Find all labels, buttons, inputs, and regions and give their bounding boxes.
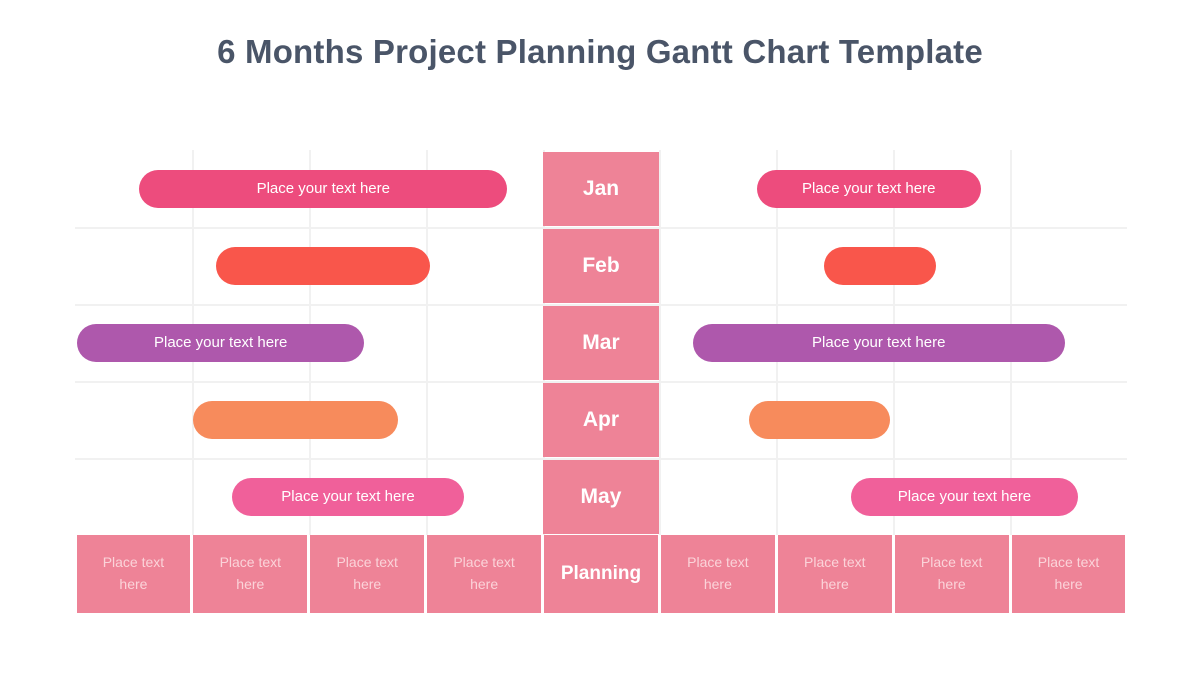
gantt-bar-label: Place your text here (281, 488, 414, 505)
grid-vline (659, 150, 661, 535)
gantt-bar-right-3[interactable]: Place your text here (693, 324, 1065, 362)
month-column: JanFebMarAprMay (543, 150, 660, 535)
bottom-cell-planning[interactable]: Planning (544, 535, 658, 613)
month-cell-mar[interactable]: Mar (543, 306, 660, 380)
gantt-bar-right-1[interactable]: Place your text here (757, 170, 981, 208)
bottom-cell-line2: here (821, 574, 849, 596)
gantt-bar-label: Place your text here (898, 488, 1031, 505)
bottom-cell-line1: Place text (336, 552, 397, 574)
bottom-cell-7[interactable]: Place texthere (895, 535, 1009, 613)
bottom-cell-line1: Place text (453, 552, 514, 574)
month-cell-apr[interactable]: Apr (543, 383, 660, 457)
gantt-bar-right-4[interactable] (749, 401, 890, 439)
bottom-cell-line1: Place text (804, 552, 865, 574)
bottom-cell-line1: Place text (220, 552, 281, 574)
bottom-cell-6[interactable]: Place texthere (778, 535, 892, 613)
bottom-cell-2[interactable]: Place texthere (310, 535, 424, 613)
slide-canvas: 6 Months Project Planning Gantt Chart Te… (0, 0, 1200, 675)
bottom-cell-3[interactable]: Place texthere (427, 535, 541, 613)
bottom-label-row: Place textherePlace textherePlace texthe… (75, 535, 1127, 613)
gantt-bar-left-3[interactable]: Place your text here (77, 324, 364, 362)
bottom-cell-line2: here (353, 574, 381, 596)
bottom-cell-1[interactable]: Place texthere (193, 535, 307, 613)
bottom-cell-line2: here (119, 574, 147, 596)
bottom-cell-line1: Place text (103, 552, 164, 574)
bottom-cell-line2: here (470, 574, 498, 596)
gantt-bar-left-2[interactable] (216, 247, 430, 285)
month-cell-feb[interactable]: Feb (543, 229, 660, 303)
gantt-bar-label: Place your text here (802, 180, 935, 197)
gantt-bar-left-1[interactable]: Place your text here (139, 170, 507, 208)
month-cell-jan[interactable]: Jan (543, 152, 660, 226)
gantt-bar-label: Place your text here (257, 180, 390, 197)
bottom-cell-line1: Place text (687, 552, 748, 574)
gantt-bar-right-5[interactable]: Place your text here (851, 478, 1077, 516)
bottom-cell-5[interactable]: Place texthere (661, 535, 775, 613)
page-title: 6 Months Project Planning Gantt Chart Te… (0, 33, 1200, 71)
gantt-bar-left-5[interactable]: Place your text here (232, 478, 464, 516)
bottom-cell-8[interactable]: Place texthere (1012, 535, 1126, 613)
gantt-bar-right-2[interactable] (824, 247, 936, 285)
bottom-cell-line1: Place text (921, 552, 982, 574)
bottom-cell-line2: here (938, 574, 966, 596)
bottom-cell-line2: here (236, 574, 264, 596)
bottom-cell-0[interactable]: Place texthere (77, 535, 191, 613)
gantt-chart: Place your text herePlace your text here… (75, 150, 1127, 613)
bottom-cell-line2: here (704, 574, 732, 596)
gantt-bar-label: Place your text here (154, 334, 287, 351)
gantt-bar-left-4[interactable] (193, 401, 398, 439)
bottom-cell-line2: here (1055, 574, 1083, 596)
bottom-cell-line1: Place text (1038, 552, 1099, 574)
month-cell-may[interactable]: May (543, 460, 660, 534)
gantt-bar-label: Place your text here (812, 334, 945, 351)
